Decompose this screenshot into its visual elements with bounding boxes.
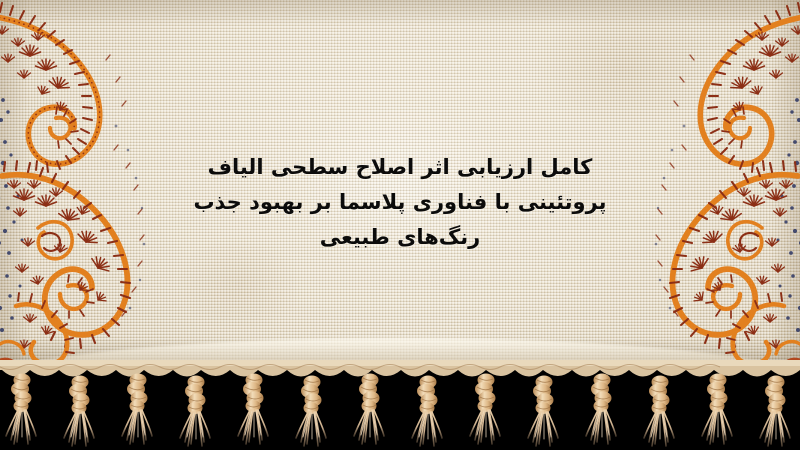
title-line-2: پروتئینی با فناوری پلاسما بر بهبود جذب — [0, 185, 800, 220]
title-line-1: کامل ارزیابی اثر اصلاح سطحی الیاف — [0, 150, 800, 185]
slide-canvas: کامل ارزیابی اثر اصلاح سطحی الیاف پروتئی… — [0, 0, 800, 450]
slide-title: کامل ارزیابی اثر اصلاح سطحی الیاف پروتئی… — [0, 150, 800, 255]
title-line-3: رنگ‌های طبیعی — [0, 220, 800, 255]
